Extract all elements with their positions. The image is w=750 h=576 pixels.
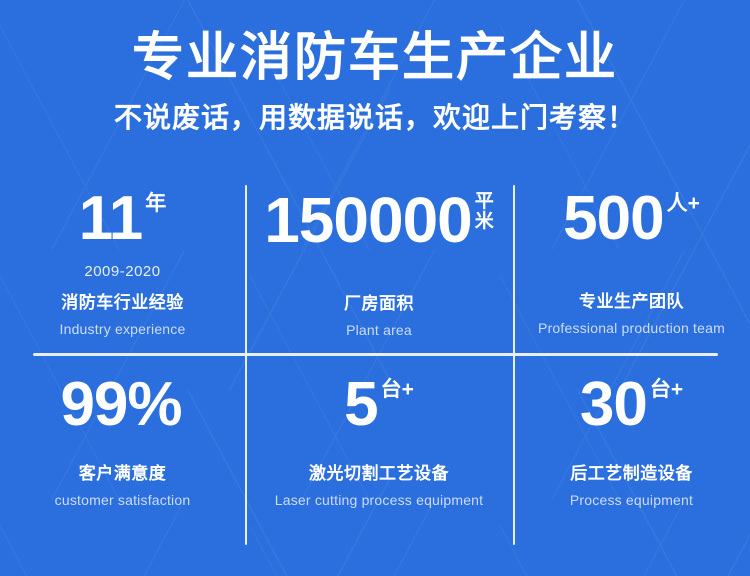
- stat-unit-char-2: 米: [475, 212, 494, 232]
- stat-cell-customer-satisfaction: 99% 客户满意度 customer satisfaction: [0, 354, 245, 556]
- stat-cell-laser-cutting-equipment: 5 台+ 激光切割工艺设备 Laser cutting process equi…: [245, 354, 513, 556]
- stat-number: 150000: [264, 190, 472, 251]
- stat-label-en: customer satisfaction: [55, 492, 191, 508]
- stat-label-en: Laser cutting process equipment: [275, 492, 484, 508]
- stat-unit: 平 米: [472, 190, 494, 232]
- stat-cell-plant-area: 150000 平 米 厂房面积 Plant area: [245, 176, 513, 354]
- vertical-divider-left: [245, 185, 247, 545]
- stat-number-line: 150000 平 米: [264, 190, 494, 251]
- stat-unit: 年: [142, 190, 166, 214]
- poster-header: 专业消防车生产企业 不说废话，用数据说话，欢迎上门考察！: [0, 0, 750, 135]
- stat-unit: 人+: [664, 190, 700, 214]
- stat-number-line: 99%: [60, 376, 184, 435]
- promo-poster: 专业消防车生产企业 不说废话，用数据说话，欢迎上门考察！ 11 年 2009-2…: [0, 0, 750, 576]
- stat-number: 11: [79, 190, 143, 249]
- stat-label-en: Professional production team: [538, 320, 725, 336]
- stat-number: 30: [580, 376, 647, 435]
- stat-unit: 台+: [378, 376, 414, 400]
- stat-unit: [182, 376, 185, 379]
- stat-number: 500: [563, 190, 663, 249]
- stat-cell-industry-experience: 11 年 2009-2020 消防车行业经验 Industry experien…: [0, 176, 245, 354]
- stat-number-line: 30 台+: [580, 376, 683, 435]
- stat-cell-production-team: 500 人+ 专业生产团队 Professional production te…: [513, 176, 750, 354]
- page-title: 专业消防车生产企业: [0, 0, 750, 89]
- stat-unit-char-1: 平: [475, 192, 494, 212]
- stat-number-line: 500 人+: [563, 190, 700, 249]
- stat-label-cn: 客户满意度: [79, 459, 167, 484]
- stat-cell-process-equipment: 30 台+ 后工艺制造设备 Process equipment: [513, 354, 750, 556]
- horizontal-divider: [33, 353, 718, 356]
- page-subtitle: 不说废话，用数据说话，欢迎上门考察！: [0, 89, 750, 135]
- stat-number-line: 5 台+: [344, 376, 414, 435]
- stat-number: 99%: [60, 376, 181, 435]
- stat-label-cn: 后工艺制造设备: [570, 459, 693, 484]
- stat-number: 5: [344, 376, 377, 435]
- stat-number-line: 11 年: [79, 190, 167, 249]
- stat-label-cn: 专业生产团队: [579, 287, 684, 312]
- stat-label-cn: 激光切割工艺设备: [309, 459, 449, 484]
- stat-label-en: Process equipment: [570, 492, 693, 508]
- stat-label-cn: 消防车行业经验: [61, 288, 184, 313]
- stat-sublabel: 2009-2020: [84, 263, 160, 280]
- stat-label-en: Plant area: [346, 322, 412, 338]
- stat-label-en: Industry experience: [60, 321, 186, 337]
- stat-label-cn: 厂房面积: [344, 289, 414, 314]
- vertical-divider-right: [513, 185, 515, 545]
- stat-unit: 台+: [647, 376, 683, 400]
- stats-grid: 11 年 2009-2020 消防车行业经验 Industry experien…: [0, 176, 750, 556]
